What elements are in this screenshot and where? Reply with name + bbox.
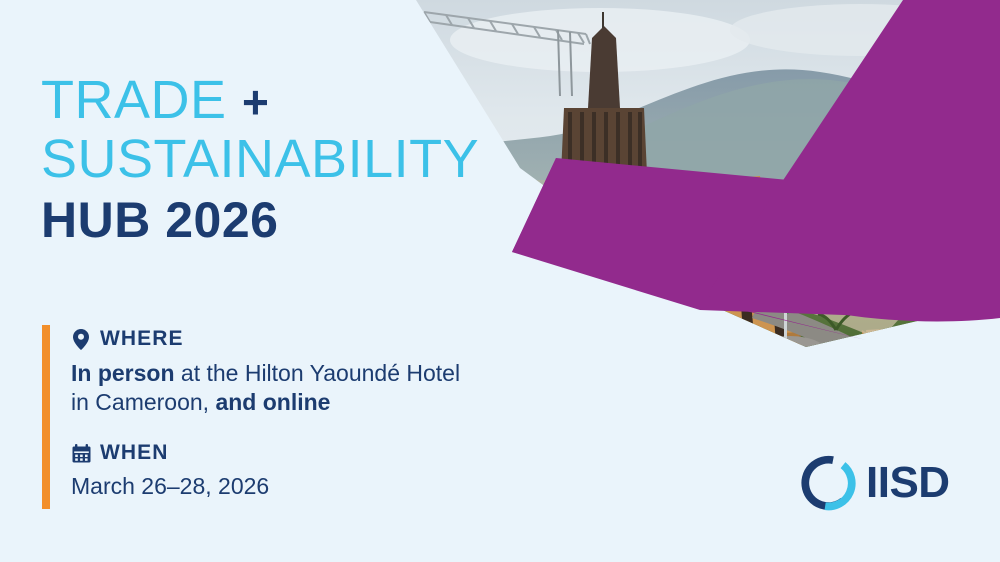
where-text-bold-1: In person bbox=[71, 360, 175, 386]
headline-line-1: TRADE + bbox=[41, 72, 561, 131]
event-promo-banner: TRADE + SUSTAINABILITY HUB 2026 WHERE In… bbox=[0, 0, 1000, 562]
headline-plus: + bbox=[242, 76, 269, 128]
where-heading: WHERE bbox=[71, 325, 460, 353]
event-details-body: WHERE In person at the Hilton Yaoundé Ho… bbox=[50, 325, 460, 509]
when-heading: WHEN bbox=[71, 439, 460, 467]
event-details: WHERE In person at the Hilton Yaoundé Ho… bbox=[42, 325, 582, 509]
map-pin-icon bbox=[71, 328, 91, 350]
when-text: March 26–28, 2026 bbox=[71, 472, 460, 501]
orange-accent-bar bbox=[42, 325, 50, 509]
headline-line-3: HUB 2026 bbox=[41, 190, 561, 250]
page-title: TRADE + SUSTAINABILITY HUB 2026 bbox=[41, 72, 561, 250]
when-label: WHEN bbox=[100, 441, 169, 465]
where-text-bold-2: and online bbox=[215, 389, 330, 415]
calendar-icon bbox=[71, 442, 91, 464]
iisd-wordmark: IISD bbox=[866, 461, 950, 505]
where-text: In person at the Hilton Yaoundé Hotel in… bbox=[71, 359, 460, 417]
where-text-rest-2: in Cameroon, bbox=[71, 389, 215, 415]
where-text-rest-1: at the Hilton Yaoundé Hotel bbox=[175, 360, 461, 386]
iisd-logo: IISD bbox=[800, 452, 965, 514]
where-label: WHERE bbox=[100, 327, 184, 351]
iisd-ring-icon bbox=[800, 454, 858, 512]
headline-line-2: SUSTAINABILITY bbox=[41, 131, 561, 188]
headline-trade: TRADE bbox=[41, 70, 227, 130]
